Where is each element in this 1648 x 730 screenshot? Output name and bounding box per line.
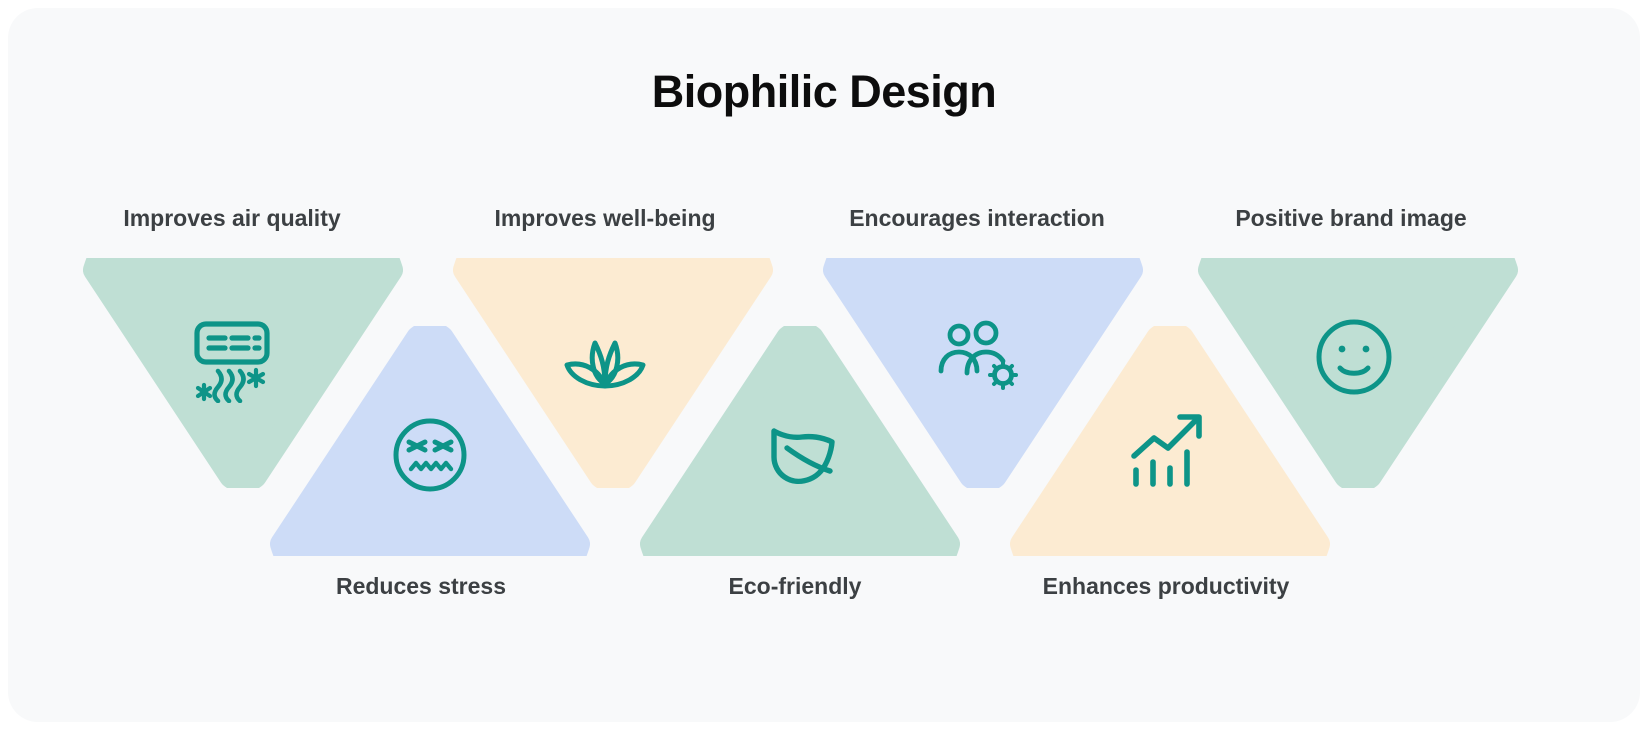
air-conditioner-icon [186, 311, 278, 403]
segment-label-3: Improves well-being [395, 205, 815, 232]
segment-label-1: Improves air quality [22, 205, 442, 232]
lotus-flower-icon [559, 311, 651, 403]
segment-label-5: Encourages interaction [767, 205, 1187, 232]
segment-label-2: Reduces stress [211, 573, 631, 600]
segments-container: Improves air quality [8, 8, 1640, 722]
people-gear-icon [929, 311, 1021, 403]
segment-label-6: Enhances productivity [956, 573, 1376, 600]
smiley-face-icon [1308, 311, 1400, 403]
segment-label-7: Positive brand image [1141, 205, 1561, 232]
segment-label-4: Eco-friendly [585, 573, 1005, 600]
infographic-card: Biophilic Design Improves air quality [8, 8, 1640, 722]
